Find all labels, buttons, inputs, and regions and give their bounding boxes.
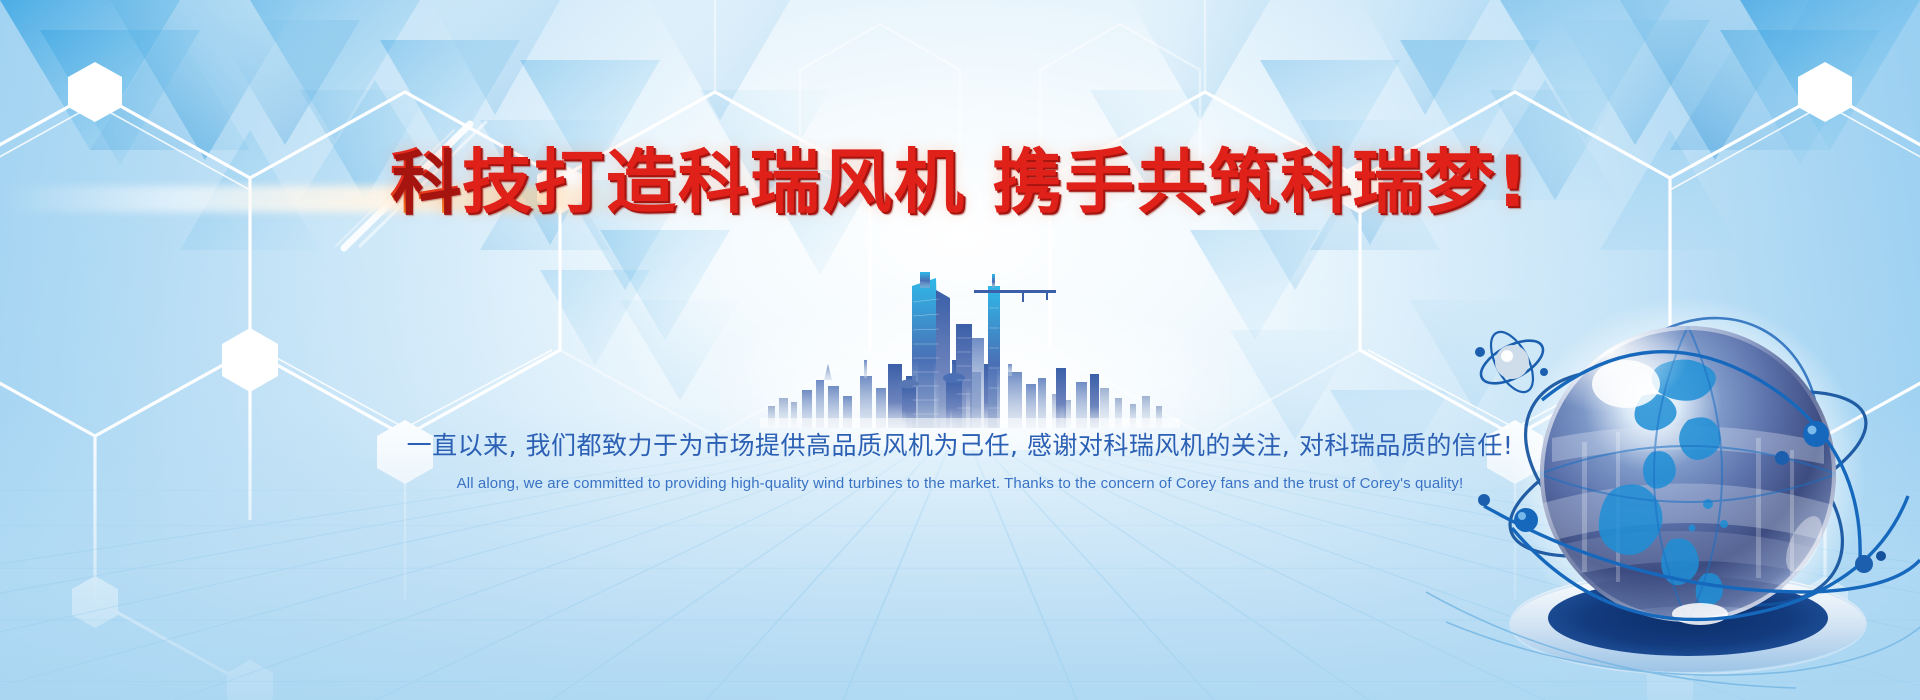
city-skyline-illustration	[760, 268, 1180, 428]
globe-illustration	[1456, 292, 1920, 700]
subtitle-chinese: 一直以来, 我们都致力于为市场提供高品质风机为己任, 感谢对科瑞风机的关注, 对…	[0, 430, 1920, 461]
headline-accent-char: 科	[390, 141, 462, 223]
promo-banner: .hl{fill:none;stroke:#ffffff;stroke-widt…	[0, 0, 1920, 700]
page-title: 科技打造科瑞风机 携手共筑科瑞梦!	[0, 147, 1920, 217]
headline-rest: 技打造科瑞风机 携手共筑科瑞梦!	[462, 141, 1530, 223]
subtitle-english: All along, we are committed to providing…	[0, 474, 1920, 494]
